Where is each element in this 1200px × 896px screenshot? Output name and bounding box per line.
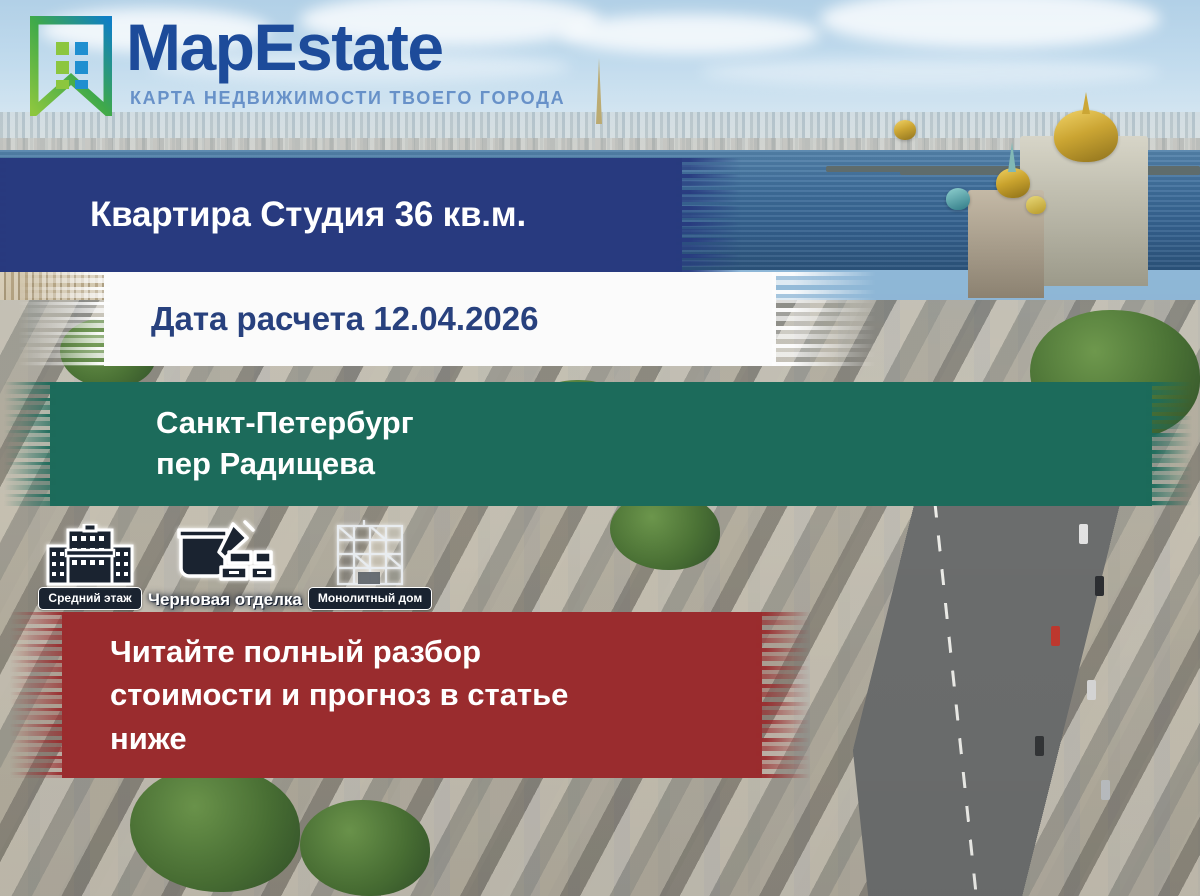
- car: [1087, 680, 1096, 700]
- property-attribute-badges: Средний этаж Черновая отделка: [38, 516, 432, 610]
- middle-floor-highlight: [66, 550, 114, 556]
- badge-label: Черновая отделка: [148, 590, 302, 610]
- peter-paul-spire: [596, 58, 602, 124]
- bookmark-building-icon: [30, 16, 112, 116]
- car: [1051, 626, 1060, 646]
- teal-dome: [946, 188, 970, 210]
- main-avenue: [828, 478, 1200, 896]
- property-banner: Квартира Студия 36 кв.м.: [0, 158, 682, 272]
- car: [1101, 780, 1110, 800]
- church-spire: [1008, 142, 1016, 172]
- golden-dome: [1054, 110, 1118, 162]
- golden-dome: [996, 168, 1030, 198]
- badge-monolithic-house[interactable]: Монолитный дом: [308, 520, 432, 610]
- paint-bucket-trowel-icon: [171, 516, 279, 588]
- small-dome: [894, 120, 916, 140]
- badge-rough-finish[interactable]: Черновая отделка: [148, 516, 302, 610]
- car: [1079, 524, 1088, 544]
- cloud: [700, 58, 1160, 86]
- badge-label: Монолитный дом: [308, 587, 432, 610]
- car: [1035, 736, 1044, 756]
- bridge: [826, 166, 906, 172]
- dome-spire: [1082, 92, 1090, 114]
- calculation-date-banner: Дата расчета 12.04.2026: [104, 272, 776, 366]
- brand-tagline: КАРТА НЕДВИЖИМОСТИ ТВОЕГО ГОРОДА: [130, 88, 565, 109]
- car: [1095, 576, 1104, 596]
- cta-line-1: Читайте полный разбор: [110, 630, 762, 673]
- calculation-date-text: Дата расчета 12.04.2026: [104, 300, 776, 338]
- badge-middle-floor[interactable]: Средний этаж: [38, 524, 142, 610]
- brand-logo[interactable]: MapEstate КАРТА НЕДВИЖИМОСТИ ТВОЕГО ГОРО…: [30, 16, 443, 116]
- property-title: Квартира Студия 36 кв.м.: [0, 195, 682, 235]
- small-dome: [1026, 196, 1046, 214]
- badge-label: Средний этаж: [38, 587, 141, 610]
- building-icon: [38, 524, 142, 590]
- scaffolding-frame-icon: [324, 520, 416, 590]
- location-street: пер Радищева: [156, 444, 1152, 485]
- location-banner: Санкт-Петербург пер Радищева: [50, 382, 1152, 506]
- cloud: [560, 14, 820, 54]
- brand-name: MapEstate: [126, 16, 443, 78]
- cta-banner[interactable]: Читайте полный разбор стоимости и прогно…: [62, 612, 762, 778]
- cta-line-3: ниже: [110, 717, 762, 760]
- cta-line-2: стоимости и прогноз в статье: [110, 673, 762, 716]
- location-city: Санкт-Петербург: [156, 403, 1152, 444]
